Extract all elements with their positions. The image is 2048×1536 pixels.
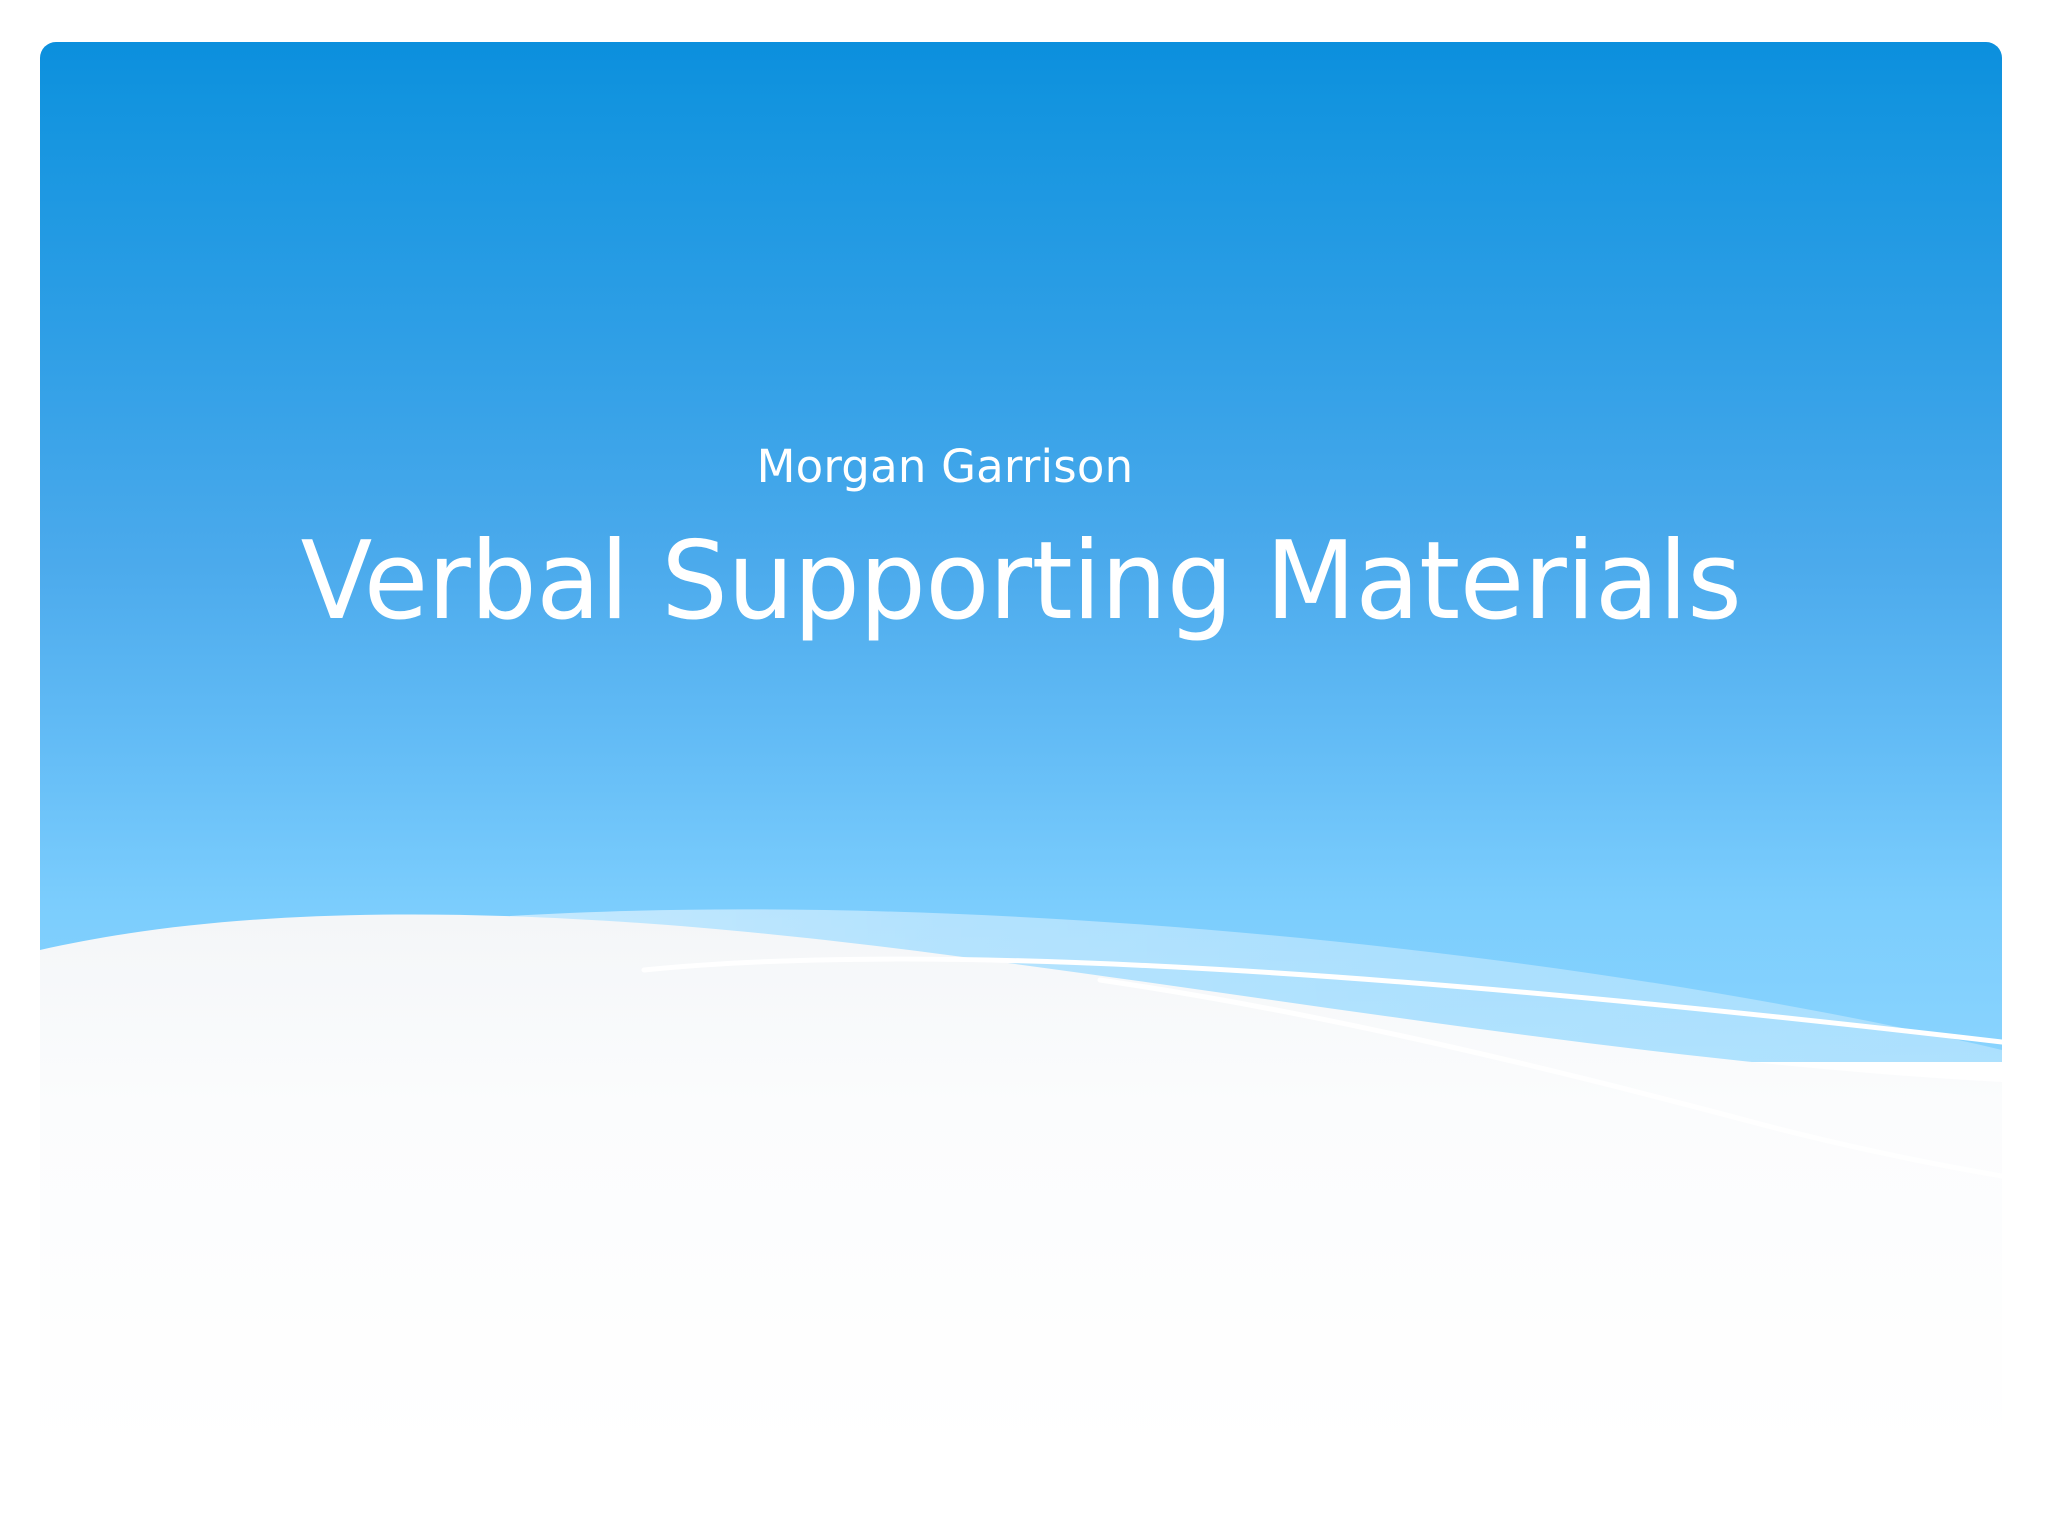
title-slide: Morgan Garrison Verbal Supporting Materi… bbox=[40, 42, 2002, 1458]
slide-page: Morgan Garrison Verbal Supporting Materi… bbox=[0, 0, 2048, 1536]
title-text-block: Morgan Garrison Verbal Supporting Materi… bbox=[40, 42, 2002, 1062]
slide-title: Verbal Supporting Materials bbox=[69, 518, 1972, 645]
slide-subtitle: Morgan Garrison bbox=[40, 442, 1850, 492]
